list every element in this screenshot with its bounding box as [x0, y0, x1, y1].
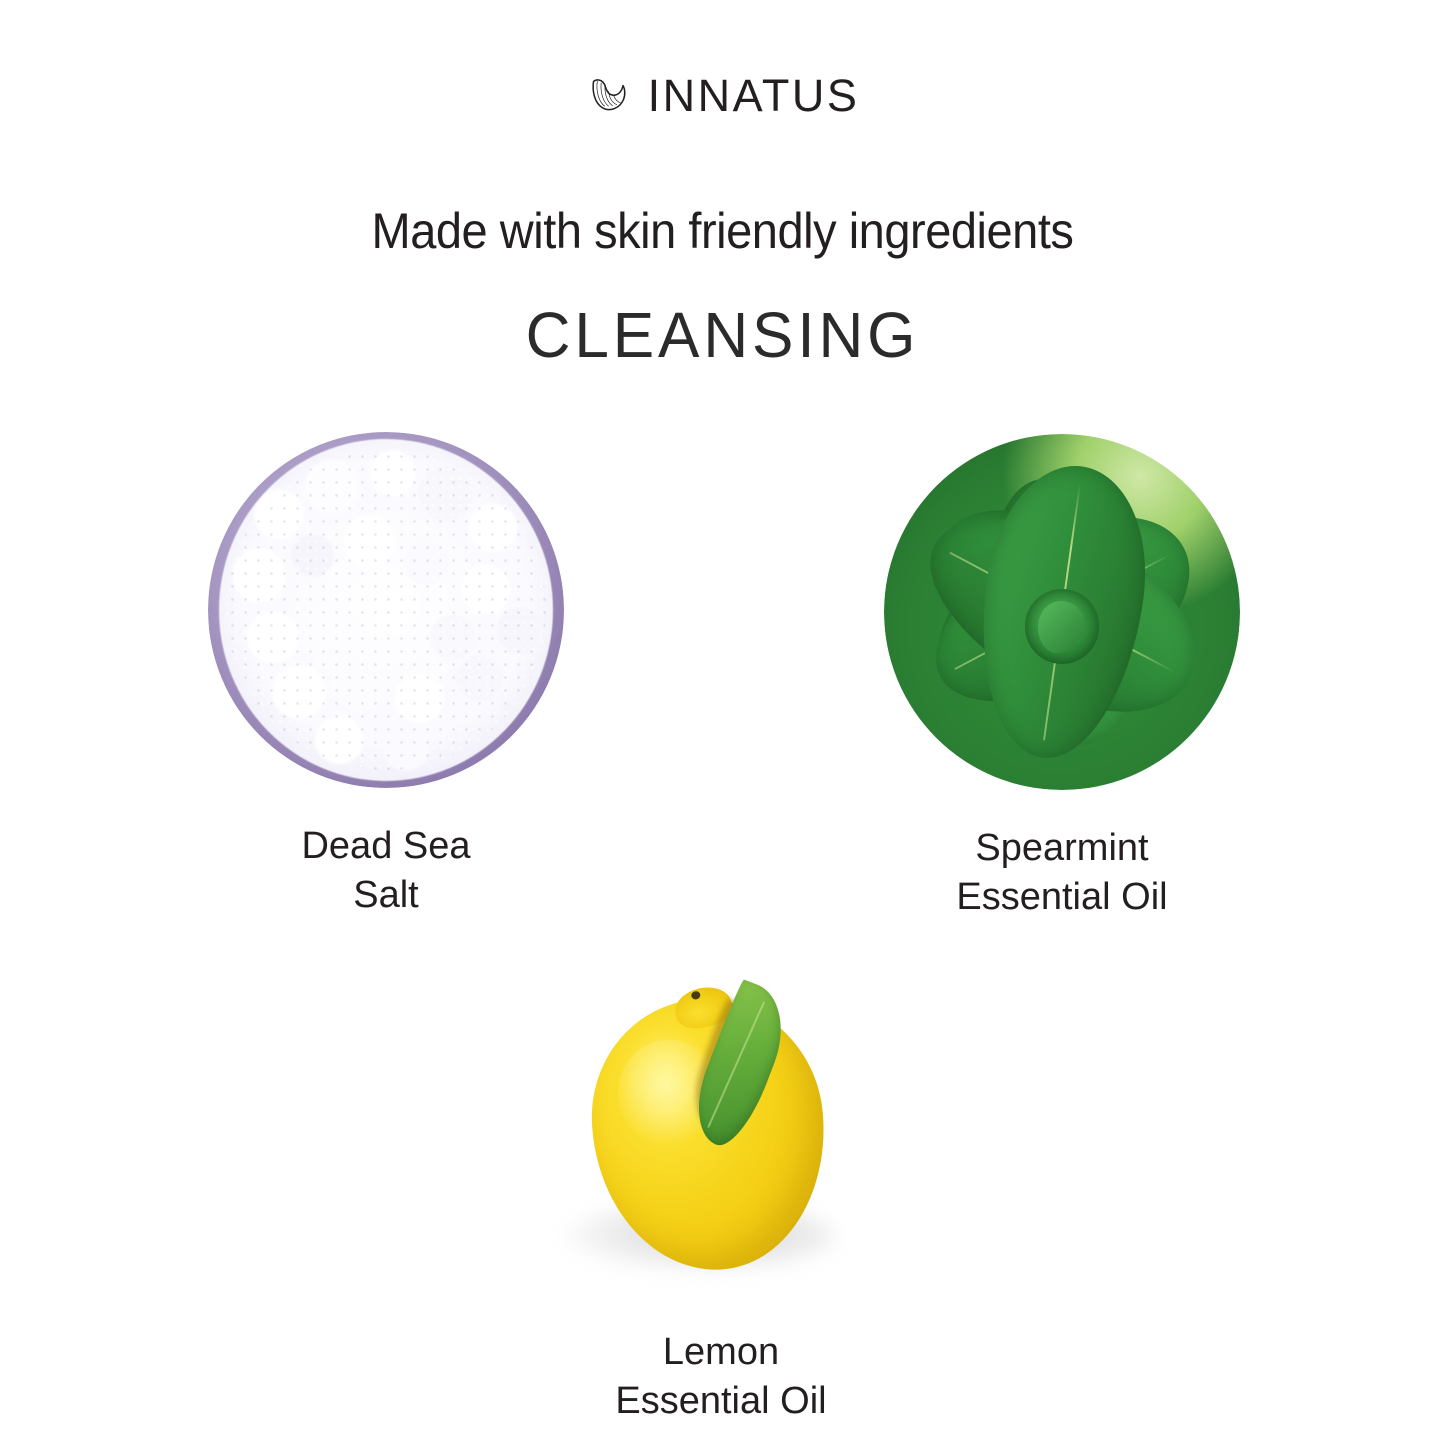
lemon-caption: Lemon Essential Oil	[543, 1328, 899, 1425]
innatus-leaf-wave-icon	[586, 72, 632, 118]
section-title: CLEANSING	[22, 300, 1424, 370]
caption-line-1: Spearmint	[975, 827, 1148, 869]
tagline: Made with skin friendly ingredients	[43, 204, 1401, 259]
salt-grain-texture	[226, 450, 546, 770]
spearmint-caption: Spearmint Essential Oil	[884, 824, 1240, 921]
caption-line-2: Essential Oil	[543, 1377, 899, 1426]
ingredient-lemon: Lemon Essential Oil	[543, 938, 899, 1425]
mint-center-bud	[1025, 589, 1100, 664]
brand-name: INNATUS	[648, 73, 860, 118]
caption-line-1: Lemon	[663, 1331, 779, 1373]
spearmint-image	[884, 434, 1240, 790]
ingredients-infographic: INNATUS Made with skin friendly ingredie…	[0, 0, 1445, 1445]
caption-line-1: Dead Sea	[301, 825, 470, 867]
dead-sea-salt-caption: Dead Sea Salt	[208, 822, 564, 919]
brand-header: INNATUS	[0, 72, 1445, 118]
lemon-image	[543, 938, 899, 1294]
dead-sea-salt-image	[208, 432, 564, 788]
ingredient-dead-sea-salt: Dead Sea Salt	[208, 432, 564, 919]
caption-line-2: Salt	[208, 871, 564, 920]
ingredient-spearmint: Spearmint Essential Oil	[884, 434, 1240, 921]
caption-line-2: Essential Oil	[884, 873, 1240, 922]
